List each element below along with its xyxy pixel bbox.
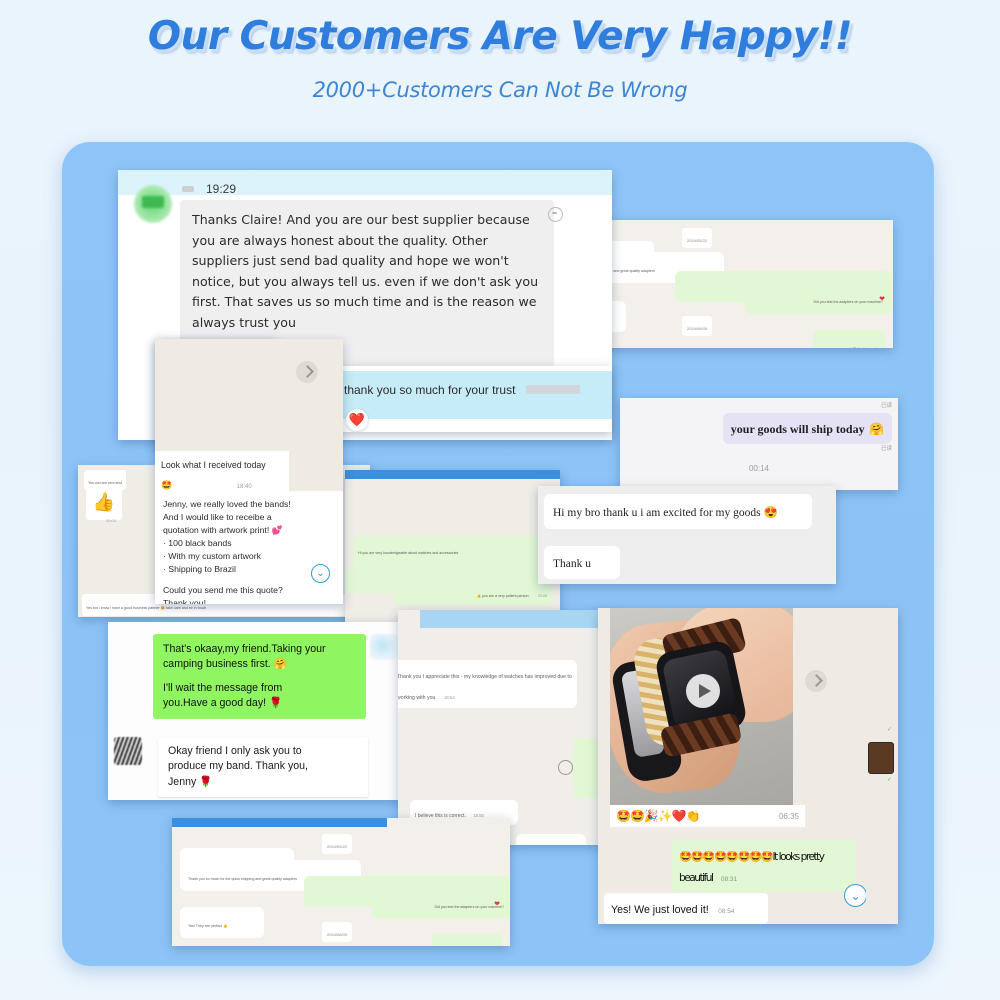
white-line: Okay friend I only ask you to [168, 744, 358, 759]
chat-bubble-in: Thank you I appreciate this - my knowled… [398, 660, 577, 708]
quote-line: quotation with artwork print! 💕 [163, 524, 341, 537]
quote-line: Could you send me this quote? [163, 584, 341, 597]
scroll-down-icon[interactable]: ⌄ [311, 564, 330, 583]
white-timestamp: 08:54 [718, 908, 734, 915]
watch-video-thumbnail[interactable] [610, 608, 793, 805]
chat-card-watch-video[interactable]: 🤩🤩🎉✨❤️👏 06:35 🤩🤩🤩🤩🤩🤩🤩🤩It looks pretty be… [598, 608, 898, 924]
forward-icon[interactable] [296, 361, 318, 383]
date-stamp: 2024/08/05 [322, 922, 352, 942]
video-reactions-bar: 🤩🤩🎉✨❤️👏 06:35 [610, 805, 805, 827]
read-receipt: 已读 [881, 401, 892, 409]
avatar-inner [142, 196, 164, 208]
heart-reaction-icon[interactable]: ❤️ [346, 409, 368, 431]
hug-emoji: 🤗 [869, 422, 884, 436]
chat-bubble-in: Yes! They are perfect 👍 [180, 907, 264, 938]
chat-titlebar [420, 610, 613, 628]
photo-timestamp: 18:40 [237, 484, 252, 490]
trust-bubble: thank you so much for your trust [334, 371, 612, 419]
chat-bubble-out: Ok that is great [813, 330, 885, 348]
sticker-avatar [370, 634, 398, 660]
chat-titlebar [172, 818, 387, 827]
quote-line: · With my custom artwork [163, 550, 341, 563]
white-message-bubble: Okay friend I only ask you to produce my… [158, 737, 368, 797]
sender-name-blurred [182, 186, 194, 192]
green-review-bubble: 🤩🤩🤩🤩🤩🤩🤩🤩It looks pretty beautiful 08:31 [672, 840, 856, 892]
date-stamp: 2024/05/22 [682, 228, 712, 248]
chat-bubble-in: in business 18:56 [516, 834, 586, 845]
chat-card-camping-business[interactable]: That's okaay,my friend.Taking your campi… [108, 622, 404, 800]
chat-card-ship-adapters-bottom[interactable]: 2024/05/22 Hi Claire. Yes, they are perf… [172, 818, 510, 946]
thumbs-up-emoji: 👍 [86, 484, 122, 520]
video-timestamp: 06:35 [779, 812, 799, 821]
scroll-down-icon[interactable]: ⌄ [844, 884, 867, 907]
green-timestamp: 08:31 [721, 876, 737, 883]
thumbnail-photo[interactable] [868, 742, 894, 774]
quotation-bubble: Jenny, we really loved the bands! And I … [155, 491, 343, 604]
star-eyes-emoji: 🤩 [161, 481, 172, 491]
white-review-bubble: Yes! We just loved it! 08:54 [604, 893, 768, 924]
contact-avatar [114, 737, 142, 765]
emoji-timestamp: 20:03 [106, 518, 116, 523]
chat-card-goods-ship-today[interactable]: 已读 your goods will ship today 🤗 已读 00:14 [620, 398, 898, 490]
green-line: I'll wait the message from [163, 681, 356, 696]
chat-bubble-out: 👍 you are a very patient person. 20:06 [395, 580, 552, 605]
chat-bubble-out: Did you test the adapters on your machin… [745, 283, 891, 314]
heart-icon: ❤ [879, 295, 885, 303]
page-title: Our Customers Are Very Happy!! [0, 14, 1000, 59]
green-line: camping business first. 🤗 [163, 657, 356, 672]
emoji-reaction-icon[interactable] [548, 207, 563, 222]
play-icon[interactable] [686, 674, 720, 708]
white-line: Jenny 🌹 [168, 775, 358, 790]
quote-line: And I would like to receibe a [163, 511, 341, 524]
chat-bubble-out: Ok that is great [432, 934, 502, 946]
quote-line: Jenny, we really loved the bands! [163, 498, 341, 511]
green-line: That's okaay,my friend.Taking your [163, 642, 356, 657]
reaction-emojis: 🤩🤩🎉✨❤️👏 [616, 809, 700, 823]
quote-line: · 100 black bands [163, 537, 341, 550]
read-receipt: 已读 [881, 444, 892, 452]
page-subtitle: 2000+Customers Can Not Be Wrong [0, 78, 1000, 102]
chat-card-bands-quotation[interactable]: Look what I received today 🤩 18:40 Jenny… [155, 339, 343, 604]
date-stamp: 2024/08/05 [682, 316, 712, 336]
emoji-reaction-mouth [552, 212, 557, 214]
quote-line: Thank you! [163, 597, 341, 604]
blurred-name [526, 385, 580, 394]
green-message-bubble: That's okaay,my friend.Taking your campi… [153, 634, 366, 719]
read-check-icon: ✓ [887, 726, 892, 733]
chat-bubble-in: Thank u [544, 546, 620, 579]
chat-card-excited-goods[interactable]: Hi my bro thank u i am excited for my go… [538, 486, 836, 584]
record-icon[interactable] [558, 760, 573, 775]
chat-card-watch-knowledge[interactable]: Thank you I appreciate this - my knowled… [398, 610, 613, 845]
green-line: you.Have a good day! 🌹 [163, 696, 356, 711]
ship-today-bubble: your goods will ship today 🤗 [723, 413, 892, 444]
chat-bubble-out: Did you test the adapters on your machin… [372, 888, 510, 919]
date-stamp: 2024/05/22 [322, 834, 352, 854]
chat-bubble-in: Hi my bro thank u i am excited for my go… [544, 494, 812, 529]
chat-card-trust-reply[interactable]: thank you so much for your trust ❤️ [330, 366, 612, 432]
read-check-icon: ✓ [887, 776, 892, 783]
message-timestamp: 19:29 [206, 182, 236, 196]
testimonial-collage: Our Customers Are Very Happy!! 2000+Cust… [0, 0, 1000, 1000]
date-divider: 00:14 [620, 464, 898, 473]
forward-icon[interactable] [805, 670, 827, 692]
heart-icon: ❤ [494, 900, 500, 908]
white-line: produce my band. Thank you, [168, 759, 358, 774]
chat-titlebar [345, 470, 560, 479]
chat-card-knowledgeable-watches[interactable]: Hi you are very knowledgeable about watc… [345, 470, 560, 630]
